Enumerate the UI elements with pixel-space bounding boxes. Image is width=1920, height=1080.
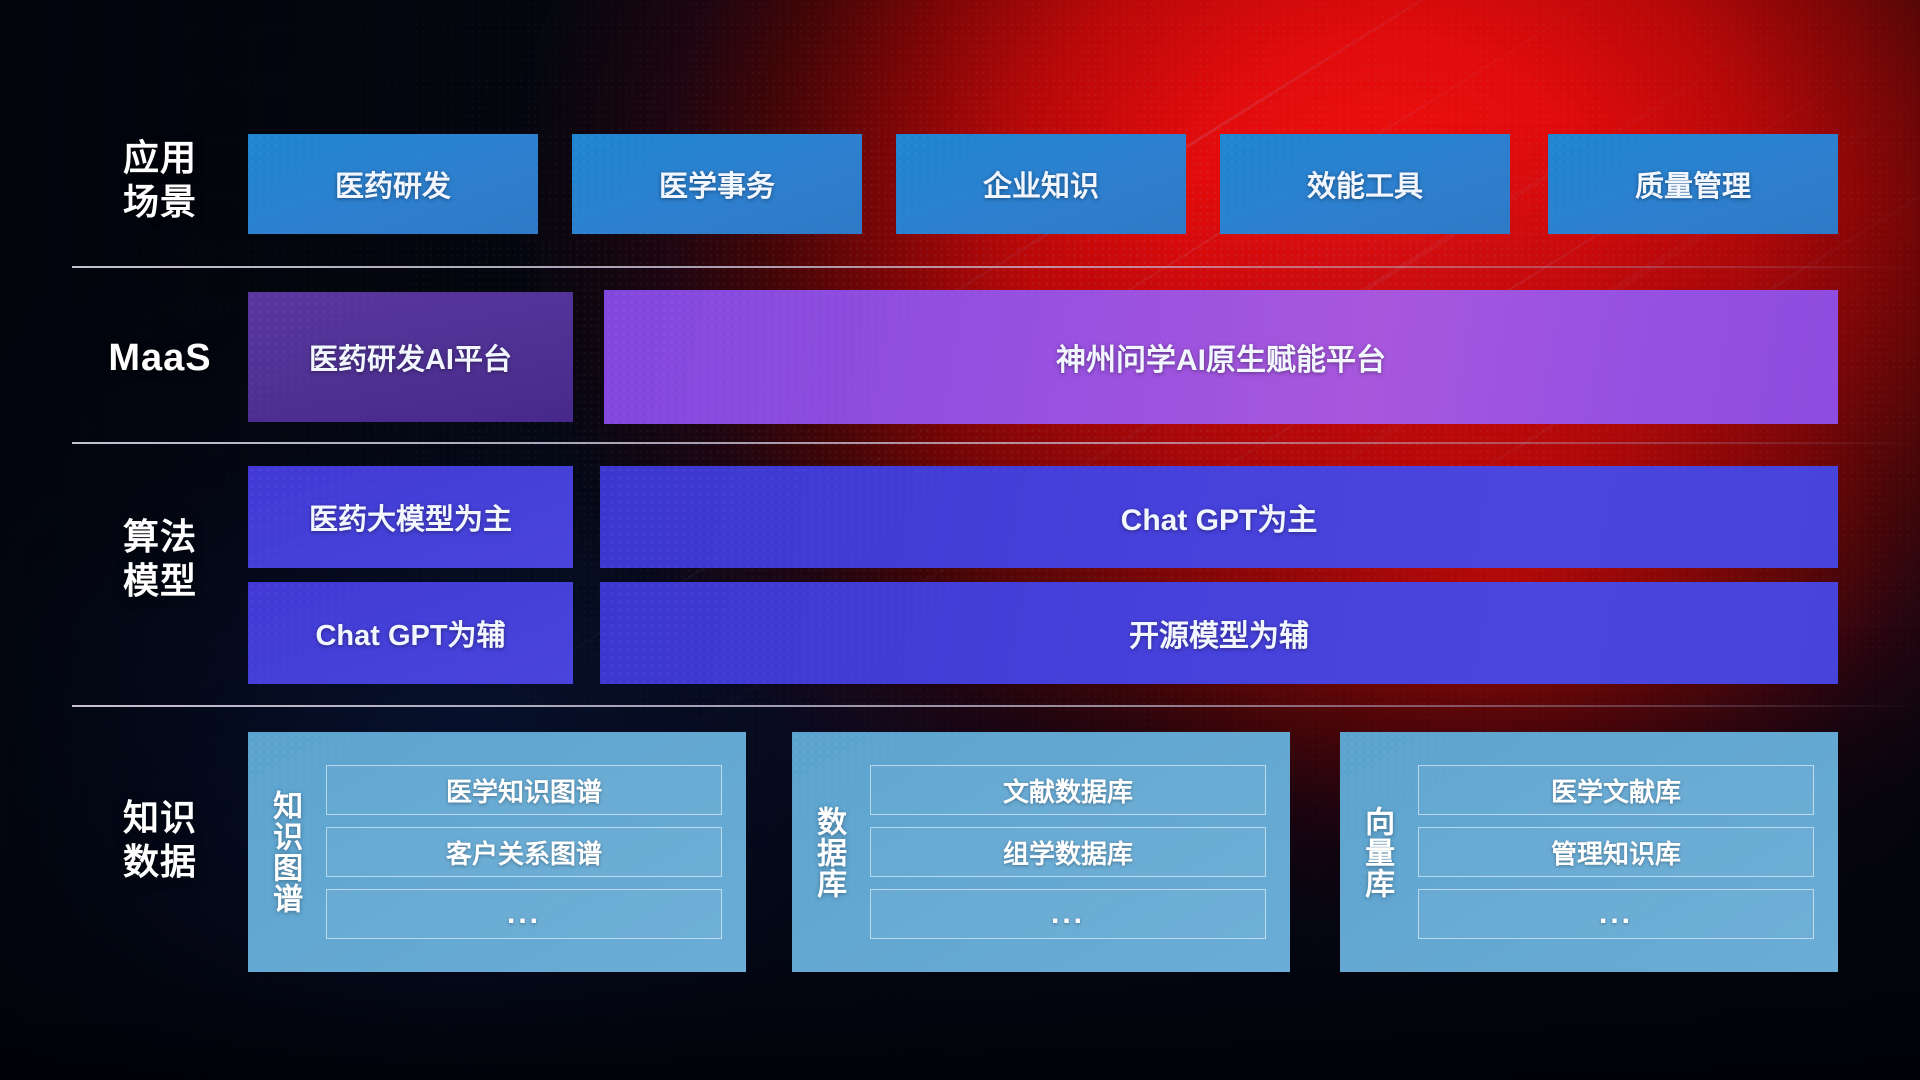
row-label-application-scenario: 应用 场景	[72, 136, 248, 224]
row-label-line: 知识	[72, 796, 248, 840]
algorithm-card-medical-large-model[interactable]: 医药大模型为主	[248, 466, 573, 568]
knowledge-group-title: 向量库	[1340, 732, 1412, 972]
divider-maas-algorithm	[72, 442, 1920, 444]
knowledge-group-database[interactable]: 数据库 文献数据库 组学数据库 ...	[792, 732, 1290, 972]
knowledge-item-more[interactable]: ...	[1418, 889, 1814, 939]
divider-application-maas	[72, 266, 1920, 268]
divider-algorithm-knowledge	[72, 705, 1920, 707]
knowledge-item[interactable]: 客户关系图谱	[326, 827, 722, 877]
algorithm-card-chatgpt-primary[interactable]: Chat GPT为主	[600, 466, 1838, 568]
app-scenario-card-2[interactable]: 医学事务	[572, 134, 862, 234]
knowledge-group-vector-database[interactable]: 向量库 医学文献库 管理知识库 ...	[1340, 732, 1838, 972]
row-label-line: 数据	[72, 840, 248, 884]
knowledge-item[interactable]: 组学数据库	[870, 827, 1266, 877]
app-scenario-card-3[interactable]: 企业知识	[896, 134, 1186, 234]
knowledge-item[interactable]: 医学知识图谱	[326, 765, 722, 815]
knowledge-item-more[interactable]: ...	[326, 889, 722, 939]
app-scenario-card-4[interactable]: 效能工具	[1220, 134, 1510, 234]
knowledge-group-title: 知识图谱	[248, 732, 320, 972]
knowledge-item[interactable]: 管理知识库	[1418, 827, 1814, 877]
knowledge-item[interactable]: 医学文献库	[1418, 765, 1814, 815]
maas-platform-card-shenzhou[interactable]: 神州问学AI原生赋能平台	[604, 290, 1838, 424]
knowledge-group-item-list: 医学文献库 管理知识库 ...	[1412, 732, 1838, 972]
knowledge-item[interactable]: 文献数据库	[870, 765, 1266, 815]
row-label-line: MaaS	[72, 335, 248, 381]
row-label-line: 模型	[72, 559, 248, 603]
algorithm-card-chatgpt-auxiliary[interactable]: Chat GPT为辅	[248, 582, 573, 684]
knowledge-group-knowledge-graph[interactable]: 知识图谱 医学知识图谱 客户关系图谱 ...	[248, 732, 746, 972]
algorithm-card-opensource-auxiliary[interactable]: 开源模型为辅	[600, 582, 1838, 684]
knowledge-group-item-list: 文献数据库 组学数据库 ...	[864, 732, 1290, 972]
app-scenario-card-1[interactable]: 医药研发	[248, 134, 538, 234]
knowledge-group-title: 数据库	[792, 732, 864, 972]
row-label-line: 场景	[72, 180, 248, 224]
knowledge-group-item-list: 医学知识图谱 客户关系图谱 ...	[320, 732, 746, 972]
row-label-algorithm-model: 算法 模型	[72, 515, 248, 603]
row-label-line: 应用	[72, 136, 248, 180]
app-scenario-card-5[interactable]: 质量管理	[1548, 134, 1838, 234]
maas-platform-card-medical-rd[interactable]: 医药研发AI平台	[248, 292, 573, 422]
knowledge-item-more[interactable]: ...	[870, 889, 1266, 939]
row-label-line: 算法	[72, 515, 248, 559]
row-label-maas: MaaS	[72, 335, 248, 381]
row-label-knowledge-data: 知识 数据	[72, 796, 248, 884]
